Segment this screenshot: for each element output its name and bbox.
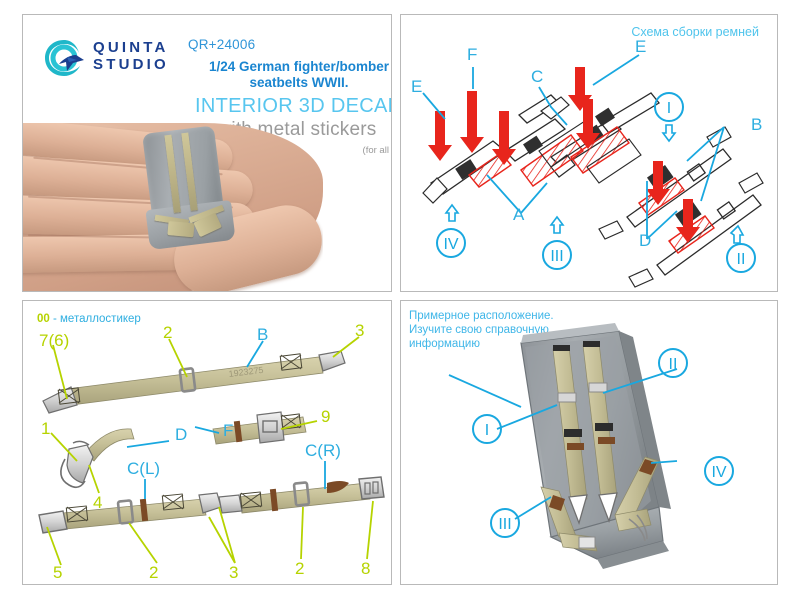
- lap-belt-pad-left: [167, 221, 194, 237]
- part-letter-B: B: [257, 325, 268, 345]
- product-code: QR+24006: [188, 37, 255, 52]
- assembly-label-A: A: [513, 205, 524, 225]
- cover-panel: QUINTA STUDIO QR+24006 1/24 German fight…: [22, 14, 392, 292]
- leather-keeper: [567, 443, 584, 450]
- assembly-label-C: C: [531, 67, 543, 87]
- placement-diagram: I II III IV: [401, 301, 778, 585]
- quinta-swirl-bird-logo: [43, 37, 87, 79]
- svg-text:I: I: [667, 100, 671, 117]
- part-number-1: 1: [41, 419, 50, 439]
- part-number-5: 5: [53, 563, 62, 583]
- brand-logo: QUINTA STUDIO: [43, 33, 185, 83]
- product-headline: INTERIOR 3D DECAL: [183, 95, 392, 118]
- part-number-2c: 2: [295, 559, 304, 579]
- svg-text:I: I: [485, 422, 489, 439]
- part-number-8: 8: [361, 559, 370, 579]
- part-letter-D: D: [175, 425, 187, 445]
- cover-photo: [23, 123, 323, 292]
- part-belt-CL: [39, 493, 221, 533]
- belt-triangle-end: [319, 351, 345, 371]
- part-number-3b: 3: [229, 563, 238, 583]
- parts-panel: 00 - металлостикер: [22, 300, 392, 585]
- belt-fitting: [595, 423, 613, 431]
- belt-end-fitting: [629, 269, 653, 287]
- belt-fitting: [564, 429, 582, 437]
- part-belt-CR: [219, 477, 384, 513]
- part-number-7-6: 7(6): [39, 331, 69, 351]
- brand-line-1: QUINTA: [93, 39, 169, 56]
- belt-slider: [589, 383, 607, 392]
- part-number-2a: 2: [163, 323, 172, 343]
- placement-panel: Примерное расположение. Изучите свою спр…: [400, 300, 778, 585]
- square-end-buckle: [39, 511, 67, 533]
- part-hook-1-4-F: [61, 429, 134, 487]
- part-belt-B: 1923275: [43, 351, 345, 413]
- belt-triangle-end: [219, 495, 242, 513]
- assembly-diagram: IV III I II: [401, 15, 778, 292]
- part-letter-CR: C(R): [305, 441, 341, 461]
- part-number-3a: 3: [355, 321, 364, 341]
- assembly-label-D: D: [639, 231, 651, 251]
- belt-end-fitting: [739, 173, 763, 193]
- belt-triangle-end: [43, 387, 77, 413]
- assembly-label-E1: E: [411, 77, 422, 97]
- belt-end-fitting: [599, 221, 623, 239]
- svg-text:IV: IV: [711, 464, 726, 481]
- assembly-label-B: B: [751, 115, 762, 135]
- assembly-arrow: [428, 111, 452, 161]
- svg-text:II: II: [737, 251, 746, 268]
- part-number-2b: 2: [149, 563, 158, 583]
- part-letter-F: F: [223, 421, 233, 441]
- assembly-panel: Схема сборки ремней: [400, 14, 778, 292]
- leather-keeper: [598, 437, 615, 444]
- assembly-label-E2: E: [635, 37, 646, 57]
- assembly-arrow: [460, 91, 484, 153]
- seat-model: [134, 124, 242, 253]
- part-letter-CL: C(L): [127, 459, 160, 479]
- svg-text:III: III: [550, 248, 563, 265]
- brand-line-2: STUDIO: [93, 56, 169, 73]
- instruction-sheet: QUINTA STUDIO QR+24006 1/24 German fight…: [0, 0, 800, 600]
- lap-buckle: [579, 537, 595, 548]
- belt-triangle-end: [199, 493, 221, 513]
- part-number-9: 9: [321, 407, 330, 427]
- brand-wordmark: QUINTA STUDIO: [93, 39, 169, 73]
- lift-lever-buckle: [257, 412, 284, 443]
- square-end-buckle: [359, 477, 384, 499]
- part-number-4: 4: [93, 493, 102, 513]
- svg-text:IV: IV: [443, 236, 458, 253]
- product-subject: 1/24 German fighter/bomber seatbelts WWI…: [188, 59, 392, 91]
- svg-text:II: II: [669, 356, 678, 373]
- svg-text:III: III: [498, 516, 511, 533]
- belt-slider: [558, 393, 576, 402]
- assembly-label-F: F: [467, 45, 477, 65]
